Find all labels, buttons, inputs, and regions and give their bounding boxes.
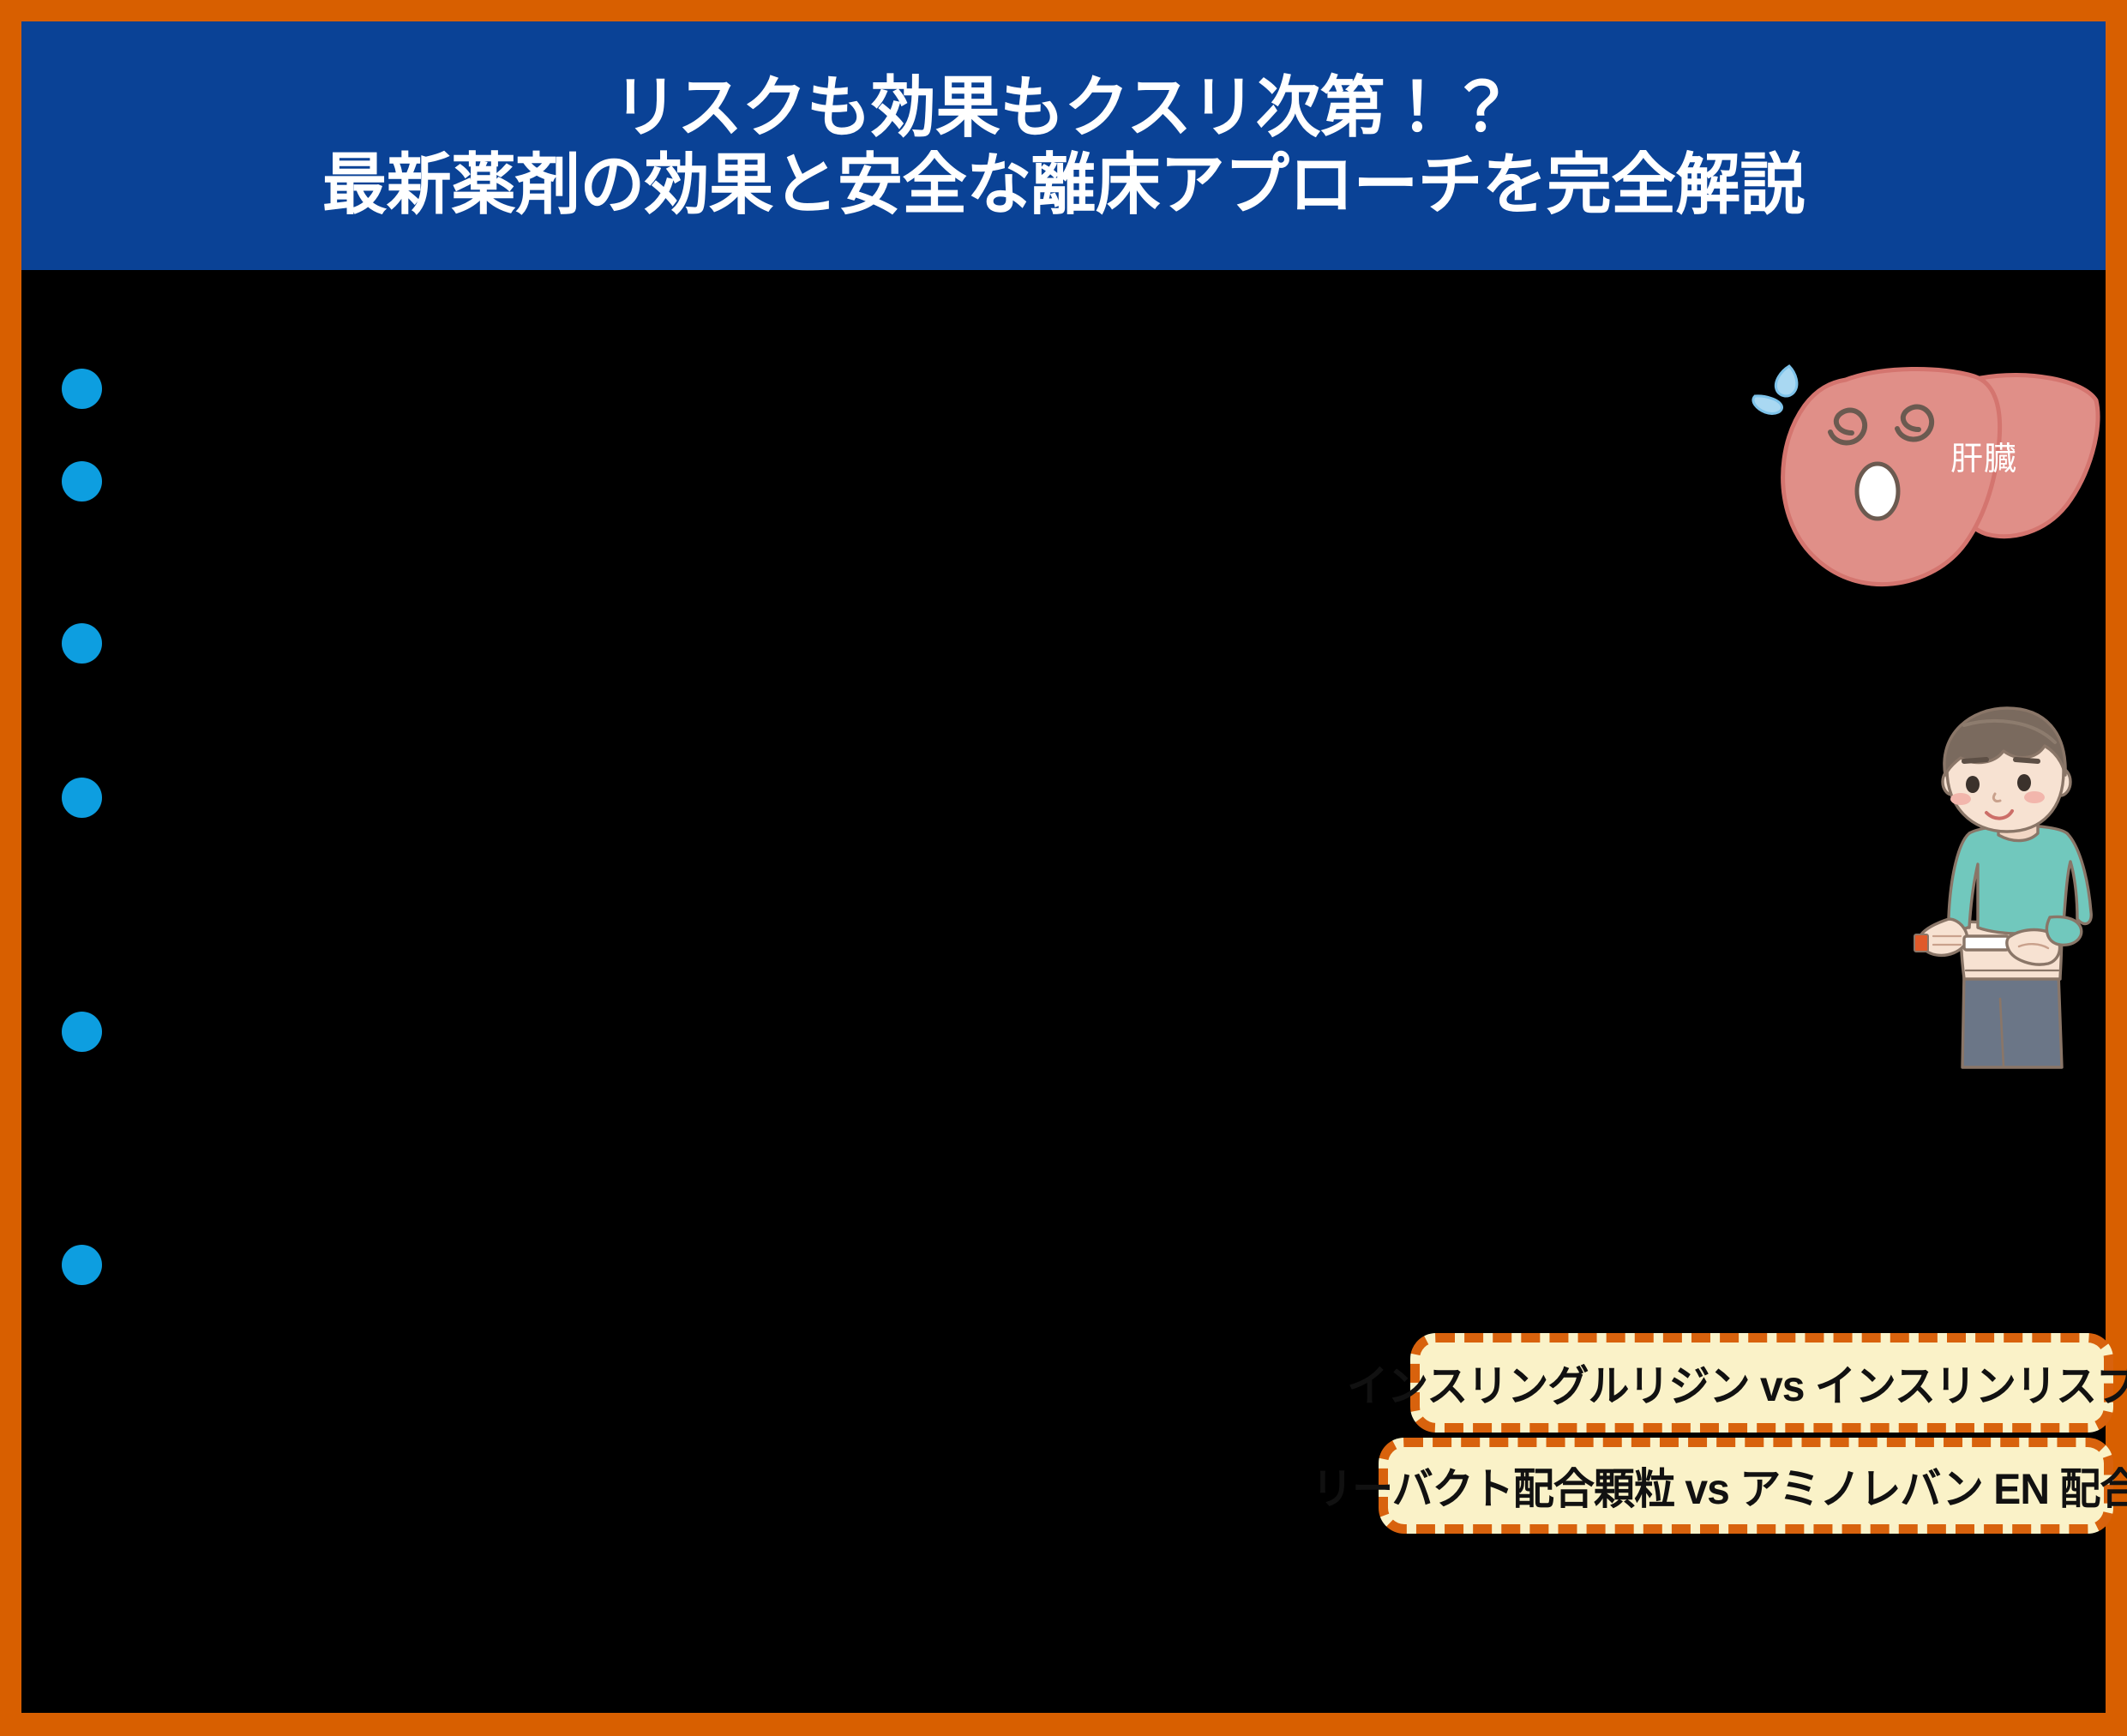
- mouth-icon: [1857, 464, 1898, 519]
- comparison-badge-1-label: インスリングルリジン vs インスリンリスプロ: [1347, 1352, 2127, 1414]
- liver-label: 肝臓: [1950, 432, 2017, 479]
- slide-root: リスクも効果もクスリ次第！？ 最新薬剤の効果と安全な離床アプローチを完全解説: [0, 0, 2127, 1736]
- bullet-marker-1: [62, 369, 102, 409]
- insulin-pen-icon: [1964, 936, 2009, 950]
- comparison-badge-1[interactable]: インスリングルリジン vs インスリンリスプロ: [1410, 1333, 2113, 1433]
- slide-canvas: リスクも効果もクスリ次第！？ 最新薬剤の効果と安全な離床アプローチを完全解説: [21, 21, 2106, 1713]
- bullet-marker-4: [62, 778, 102, 818]
- title-banner: リスクも効果もクスリ次第！？ 最新薬剤の効果と安全な離床アプローチを完全解説: [21, 21, 2106, 270]
- comparison-badge-2-label: リーバクト配合顆粒 vs アミノレバン EN 配合散: [1312, 1455, 2127, 1517]
- page-title-line-2: 最新薬剤の効果と安全な離床アプローチを完全解説: [322, 148, 1805, 220]
- liver-illustration: [1736, 347, 2105, 604]
- bullet-marker-6: [62, 1245, 102, 1285]
- sweat-drop-icon: [1753, 366, 1797, 413]
- page-title-line-1: リスクも効果もクスリ次第！？: [613, 71, 1513, 143]
- bullet-marker-5: [62, 1012, 102, 1052]
- bullet-marker-2: [62, 461, 102, 502]
- bullet-marker-3: [62, 623, 102, 664]
- person-illustration: [1908, 703, 2126, 1084]
- comparison-badge-2[interactable]: リーバクト配合顆粒 vs アミノレバン EN 配合散: [1379, 1438, 2113, 1534]
